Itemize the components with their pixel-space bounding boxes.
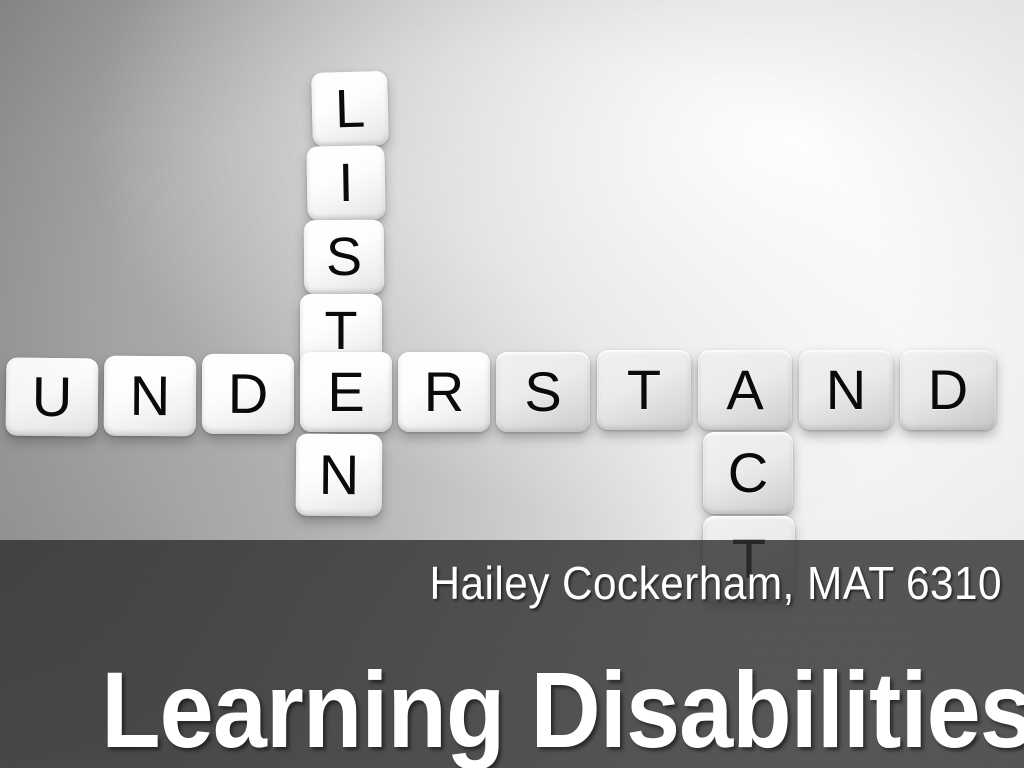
letter-tile: D	[900, 350, 996, 430]
slide-title: Learning Disabilities	[101, 653, 1012, 766]
letter-tile: E	[300, 352, 392, 432]
slide-subtitle: Hailey Cockerham, MAT 6310	[80, 556, 1002, 610]
letter-tile: C	[703, 432, 793, 514]
letter-tile: R	[398, 352, 490, 432]
letter-tile: N	[296, 434, 383, 517]
letter-tile: I	[306, 145, 385, 220]
letter-tile: S	[496, 352, 590, 432]
letter-tile: T	[597, 350, 691, 430]
letter-tile: U	[6, 358, 99, 437]
letter-tile: D	[202, 354, 294, 434]
letter-tile: N	[799, 350, 893, 430]
letter-tile: A	[698, 350, 792, 430]
presentation-slide: LISTUNDERSTANDNCT Hailey Cockerham, MAT …	[0, 0, 1024, 768]
letter-tile: L	[311, 71, 389, 147]
letter-tile: S	[304, 220, 385, 295]
letter-tile: N	[104, 356, 197, 437]
